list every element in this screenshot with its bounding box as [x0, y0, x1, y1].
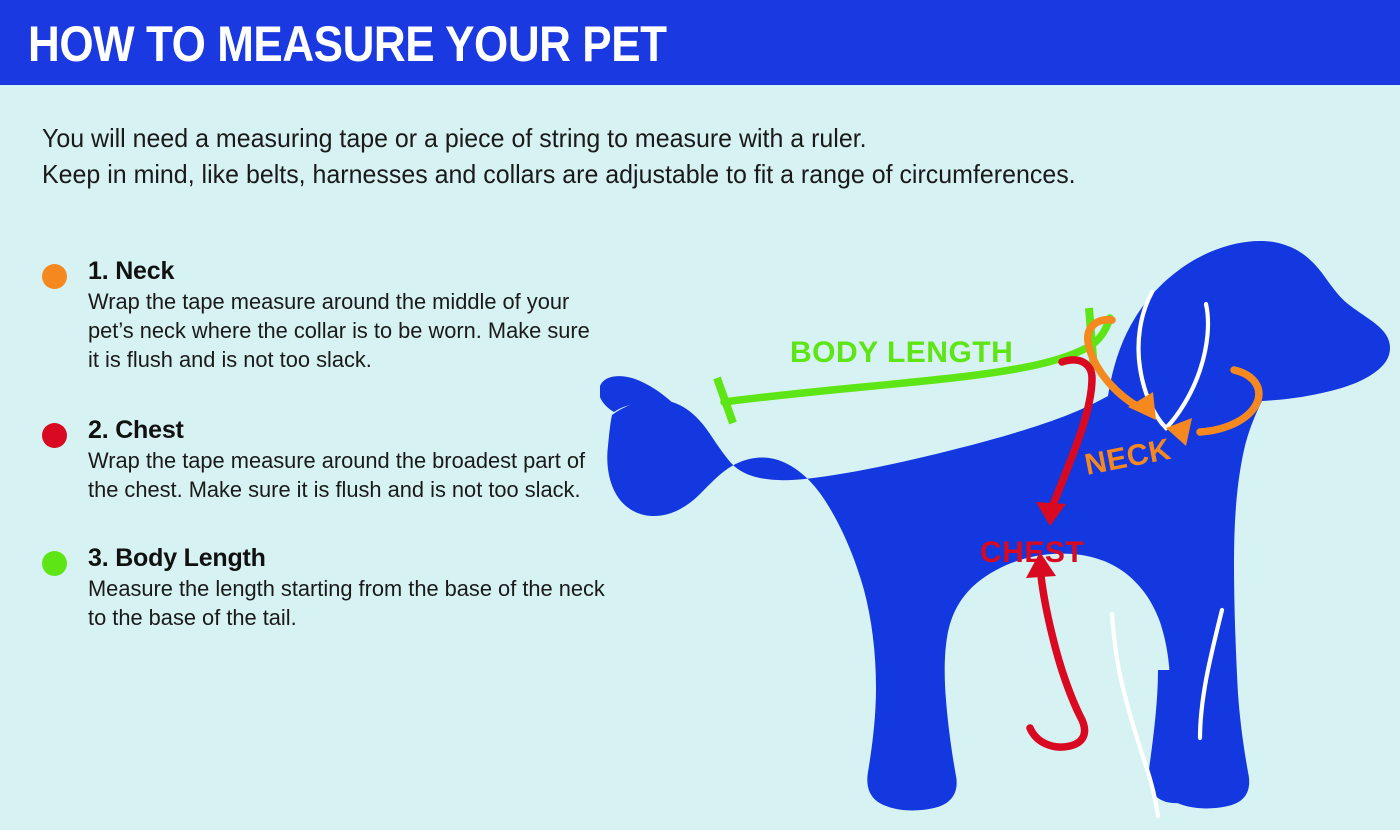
page-title: HOW TO MEASURE YOUR PET	[28, 16, 667, 72]
step-body-chest: Wrap the tape measure around the broades…	[88, 446, 606, 504]
label-chest: CHEST	[980, 536, 1084, 569]
intro-text: You will need a measuring tape or a piec…	[42, 120, 1252, 192]
step-body-body-length: Measure the length starting from the bas…	[88, 574, 606, 632]
dog-silhouette-icon	[600, 241, 1390, 810]
list-item-chest: 2. Chest Wrap the tape measure around th…	[42, 414, 622, 504]
chest-arrow-bottom-icon	[1030, 566, 1085, 747]
bullet-dot-green-icon	[42, 551, 67, 576]
infographic-page: HOW TO MEASURE YOUR PET You will need a …	[0, 0, 1400, 830]
step-body-neck: Wrap the tape measure around the middle …	[88, 287, 606, 374]
step-title-chest: 2. Chest	[88, 414, 622, 446]
list-item-body-length: 3. Body Length Measure the length starti…	[42, 542, 622, 632]
dog-diagram: BODY LENGTH NECK	[600, 210, 1400, 830]
header-banner: HOW TO MEASURE YOUR PET	[0, 0, 1400, 85]
steps-list: 1. Neck Wrap the tape measure around the…	[42, 255, 622, 658]
step-title-body-length: 3. Body Length	[88, 542, 622, 574]
intro-line-1: You will need a measuring tape or a piec…	[42, 120, 1252, 156]
label-body-length: BODY LENGTH	[790, 336, 1013, 369]
bullet-dot-red-icon	[42, 423, 67, 448]
measure-body-length: BODY LENGTH	[717, 308, 1110, 423]
bullet-dot-orange-icon	[42, 264, 67, 289]
list-item-neck: 1. Neck Wrap the tape measure around the…	[42, 255, 622, 374]
intro-line-2: Keep in mind, like belts, harnesses and …	[42, 156, 1252, 192]
step-title-neck: 1. Neck	[88, 255, 622, 287]
